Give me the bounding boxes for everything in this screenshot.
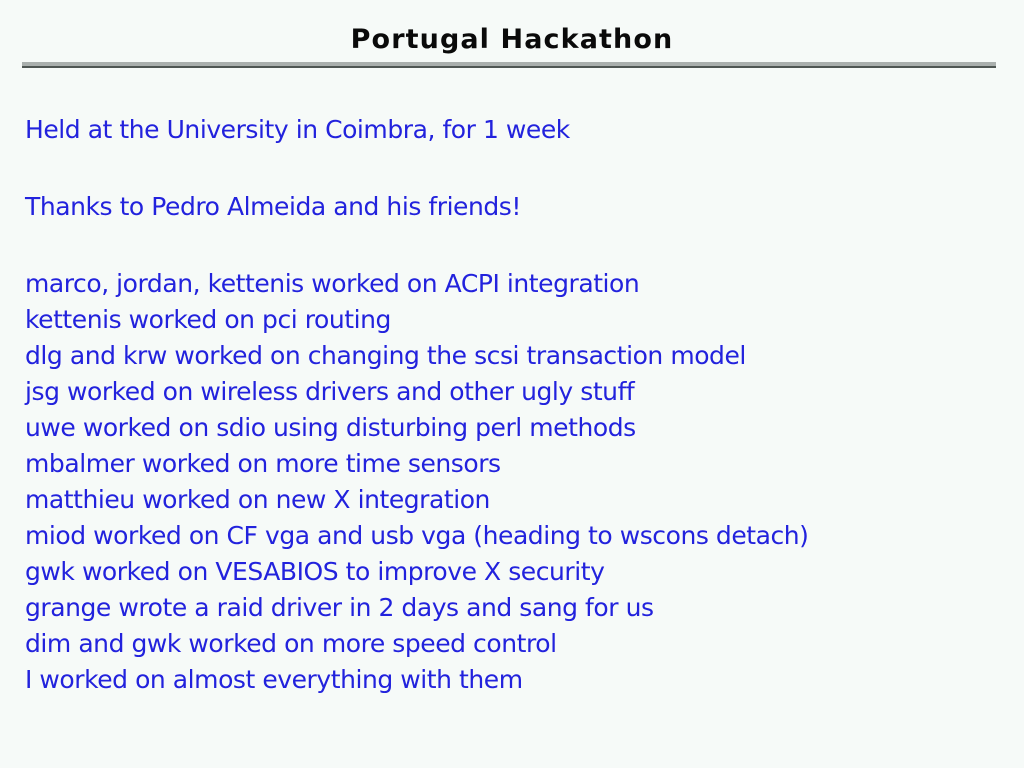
list-item: gwk worked on VESABIOS to improve X secu… bbox=[25, 554, 1000, 590]
list-item: mbalmer worked on more time sensors bbox=[25, 446, 1000, 482]
list-item: I worked on almost everything with them bbox=[25, 662, 1000, 698]
list-item: dlg and krw worked on changing the scsi … bbox=[25, 338, 1000, 374]
list-item: dim and gwk worked on more speed control bbox=[25, 626, 1000, 662]
list-item: miod worked on CF vga and usb vga (headi… bbox=[25, 518, 1000, 554]
presentation-slide: Portugal Hackathon Held at the Universit… bbox=[0, 0, 1024, 768]
list-item: grange wrote a raid driver in 2 days and… bbox=[25, 590, 1000, 626]
intro-line-location: Held at the University in Coimbra, for 1… bbox=[25, 112, 1000, 148]
list-item: kettenis worked on pci routing bbox=[25, 302, 1000, 338]
list-item: uwe worked on sdio using disturbing perl… bbox=[25, 410, 1000, 446]
slide-title-block: Portugal Hackathon bbox=[0, 24, 1024, 56]
title-divider bbox=[22, 62, 996, 68]
title-divider-bottom-band bbox=[22, 66, 996, 68]
slide-body: Held at the University in Coimbra, for 1… bbox=[25, 112, 1000, 698]
page-title: Portugal Hackathon bbox=[351, 24, 674, 56]
task-list: marco, jordan, kettenis worked on ACPI i… bbox=[25, 266, 1000, 698]
list-item: marco, jordan, kettenis worked on ACPI i… bbox=[25, 266, 1000, 302]
intro-line-thanks: Thanks to Pedro Almeida and his friends! bbox=[25, 189, 1000, 225]
list-item: jsg worked on wireless drivers and other… bbox=[25, 374, 1000, 410]
list-item: matthieu worked on new X integration bbox=[25, 482, 1000, 518]
